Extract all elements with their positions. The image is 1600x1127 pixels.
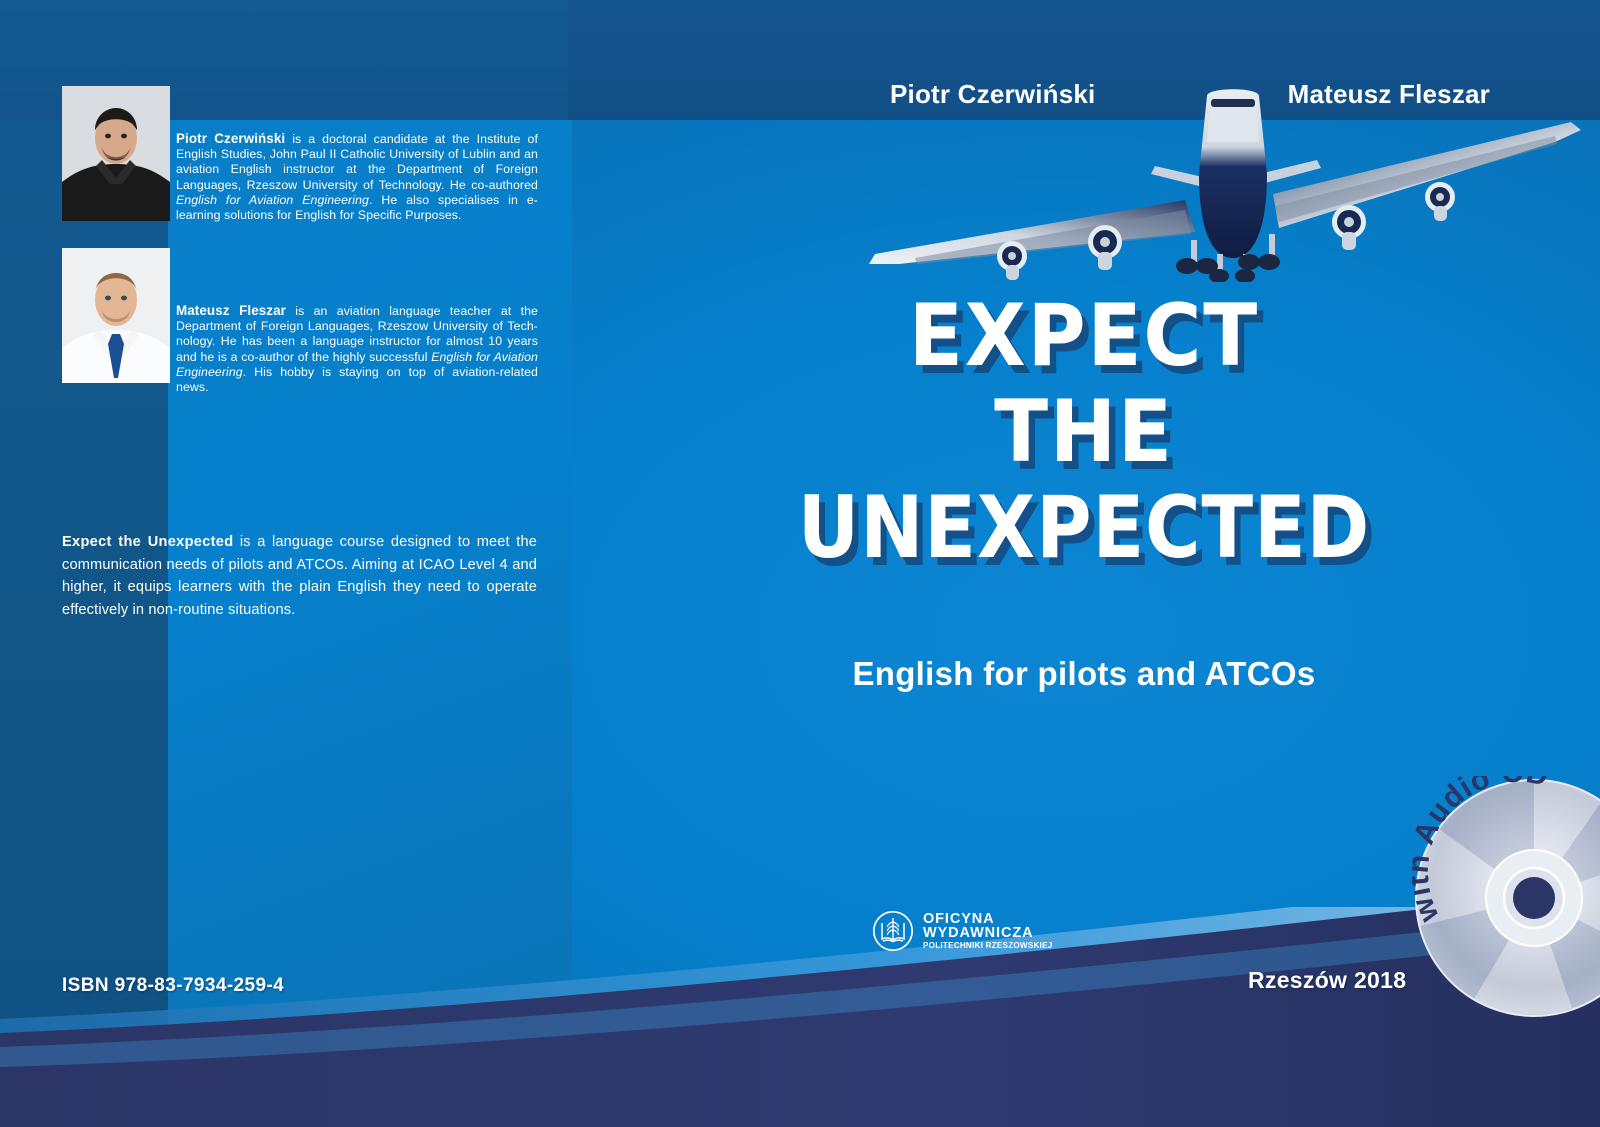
bio-mateusz-fleszar: Mateusz Fleszar is an aviation language … xyxy=(176,303,538,395)
audio-cd-badge: with Audio CD xyxy=(1412,776,1600,1020)
book-subtitle: English for pilots and ATCOs xyxy=(568,655,1600,693)
publisher-line-3: POLITECHNIKI RZESZOWSKIEJ xyxy=(923,942,1052,950)
title-line-1: EXPECT xyxy=(609,288,1558,384)
publisher-text: OFICYNA WYDAWNICZA POLITECHNIKI RZESZOWS… xyxy=(923,912,1052,951)
isbn-text: ISBN 978-83-7934-259-4 xyxy=(62,975,284,997)
publisher-line-1: OFICYNA xyxy=(923,912,1052,927)
front-author-names: Piotr Czerwiński Mateusz Fleszar xyxy=(890,79,1490,110)
place-year: Rzeszów 2018 xyxy=(1248,967,1406,994)
title-line-3: UNEXPECTED xyxy=(630,480,1538,576)
wheat-sheaf-book-icon xyxy=(872,910,914,952)
bio-name-1: Piotr Czerwiński xyxy=(176,131,285,146)
aircraft-image xyxy=(855,82,1600,282)
front-author-1: Piotr Czerwiński xyxy=(890,79,1095,110)
book-title: EXPECT THE UNEXPECTED xyxy=(568,288,1600,576)
publisher-logo: OFICYNA WYDAWNICZA POLITECHNIKI RZESZOWS… xyxy=(872,910,1052,952)
blurb-lead: Expect the Unexpected xyxy=(62,534,233,550)
avatar-piotr-czerwinski xyxy=(62,86,170,221)
bio-name-2: Mateusz Fleszar xyxy=(176,303,286,318)
wave-graphic xyxy=(0,907,1600,1127)
publisher-line-2: WYDAWNICZA xyxy=(923,926,1052,941)
title-line-2: THE xyxy=(609,384,1558,480)
book-cover: Piotr Czerwiński Mateusz Fleszar EXPECT … xyxy=(0,0,1600,1127)
back-cover-blurb: Expect the Unexpected is a language cour… xyxy=(62,531,537,621)
bio-italic-1: English for Aviation Engineering xyxy=(176,193,369,207)
front-author-2: Mateusz Fleszar xyxy=(1288,79,1490,110)
bio-piotr-czerwinski: Piotr Czerwiński is a doctoral candidate… xyxy=(176,131,538,223)
avatar-mateusz-fleszar xyxy=(62,248,170,383)
